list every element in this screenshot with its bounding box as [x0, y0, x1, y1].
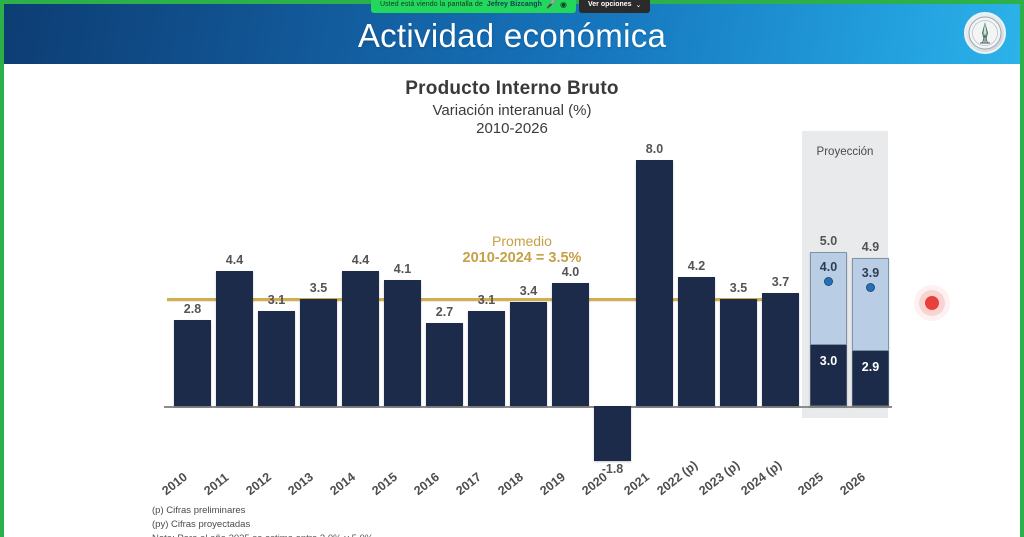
- xtick-2010: 2010: [159, 470, 190, 498]
- bar-2022: [678, 277, 715, 406]
- bar-label-2014: 4.4: [342, 253, 379, 267]
- projection-label-2026-low: 2.9: [852, 360, 889, 374]
- bar-2018: [510, 302, 547, 406]
- presenter-name: Jefrey Bizcangh: [487, 1, 542, 8]
- shared-screen-frame: Actividad económica Producto Interno Bru…: [0, 0, 1024, 537]
- chart-baseline-axis: [164, 406, 892, 408]
- bar-2019: [552, 283, 589, 406]
- microphone-icon[interactable]: 🎤: [546, 0, 556, 9]
- bar-2011: [216, 271, 253, 406]
- central-bank-seal-icon: [964, 12, 1006, 54]
- xtick-2016: 2016: [411, 470, 442, 498]
- screen-share-notification-bar: Usted está viendo la pantalla de Jefrey …: [371, 0, 650, 13]
- bar-label-2017: 3.1: [468, 293, 505, 307]
- projection-label-2025-central: 4.0: [810, 260, 847, 274]
- xtick-2013: 2013: [285, 470, 316, 498]
- page-title: Actividad económica: [358, 13, 666, 55]
- footnote-preliminary: (p) Cifras preliminares: [152, 504, 373, 518]
- bar-label-2012: 3.1: [258, 293, 295, 307]
- xtick-2014: 2014: [327, 470, 358, 498]
- chevron-down-icon: ⌄: [636, 1, 642, 9]
- projection-central-marker-2026: [867, 284, 874, 291]
- xtick-2018: 2018: [495, 470, 526, 498]
- footnote-projected: (py) Cifras proyectadas: [152, 518, 373, 532]
- xtick-2012: 2012: [243, 470, 274, 498]
- projection-label-2025-low: 3.0: [810, 354, 847, 368]
- bar-2010: [174, 320, 211, 406]
- bar-label-2010: 2.8: [174, 302, 211, 316]
- camera-icon[interactable]: ◉: [560, 0, 567, 9]
- bar-label-2011: 4.4: [216, 253, 253, 267]
- xtick-2026: 2026: [837, 470, 868, 498]
- projection-label-2025-high: 5.0: [810, 234, 847, 248]
- projection-label-2026-high: 4.9: [852, 240, 889, 254]
- bar-2020: [594, 406, 631, 461]
- bar-label-2024: 3.7: [762, 275, 799, 289]
- chart-plot-area: Proyección Promedio 2010-2024 = 3.5% 2.8…: [4, 64, 1020, 537]
- footnote-note: Nota: Para el año 2025 se estima entre 3…: [152, 532, 373, 537]
- bar-2021: [636, 160, 673, 406]
- bar-label-2013: 3.5: [300, 281, 337, 295]
- bar-label-2023: 3.5: [720, 281, 757, 295]
- bar-2012: [258, 311, 295, 406]
- presentation-slide: Actividad económica Producto Interno Bru…: [4, 4, 1020, 537]
- average-annotation: Promedio 2010-2024 = 3.5%: [432, 233, 612, 267]
- share-status-pill[interactable]: Usted está viendo la pantalla de Jefrey …: [371, 0, 576, 13]
- xtick-2015: 2015: [369, 470, 400, 498]
- view-options-button[interactable]: Ver opciones ⌄: [579, 0, 650, 13]
- bar-2015: [384, 280, 421, 406]
- bar-label-2022: 4.2: [678, 259, 715, 273]
- view-options-label: Ver opciones: [588, 1, 632, 8]
- xtick-2022: 2022 (p): [654, 458, 700, 498]
- xtick-2024: 2024 (p): [738, 458, 784, 498]
- bar-2014: [342, 271, 379, 406]
- average-label-line1: Promedio: [432, 233, 612, 250]
- bar-2017: [468, 311, 505, 406]
- bar-label-2015: 4.1: [384, 262, 421, 276]
- chart-footnotes: (p) Cifras preliminares (py) Cifras proy…: [152, 504, 373, 537]
- projection-label-2026-central: 3.9: [852, 266, 889, 280]
- slide-header-banner: Actividad económica: [4, 4, 1020, 64]
- chart-slide-body: Producto Interno Bruto Variación interan…: [4, 64, 1020, 537]
- bar-2013: [300, 299, 337, 406]
- projection-central-marker-2025: [825, 278, 832, 285]
- bar-2024: [762, 293, 799, 406]
- bar-label-2021: 8.0: [636, 142, 673, 156]
- bar-label-2019: 4.0: [552, 265, 589, 279]
- cursor-highlight-dot: [925, 296, 939, 310]
- xtick-2017: 2017: [453, 470, 484, 498]
- xtick-2020: 2020: [579, 470, 610, 498]
- xtick-2025: 2025: [795, 470, 826, 498]
- bar-label-2018: 3.4: [510, 284, 547, 298]
- projection-band-label: Proyección: [802, 146, 888, 158]
- bar-2023: [720, 299, 757, 406]
- bar-label-2016: 2.7: [426, 305, 463, 319]
- bar-2016: [426, 323, 463, 406]
- xtick-2019: 2019: [537, 470, 568, 498]
- xtick-2023: 2023 (p): [696, 458, 742, 498]
- xtick-2011: 2011: [201, 470, 231, 498]
- share-notice-text: Usted está viendo la pantalla de: [380, 1, 483, 8]
